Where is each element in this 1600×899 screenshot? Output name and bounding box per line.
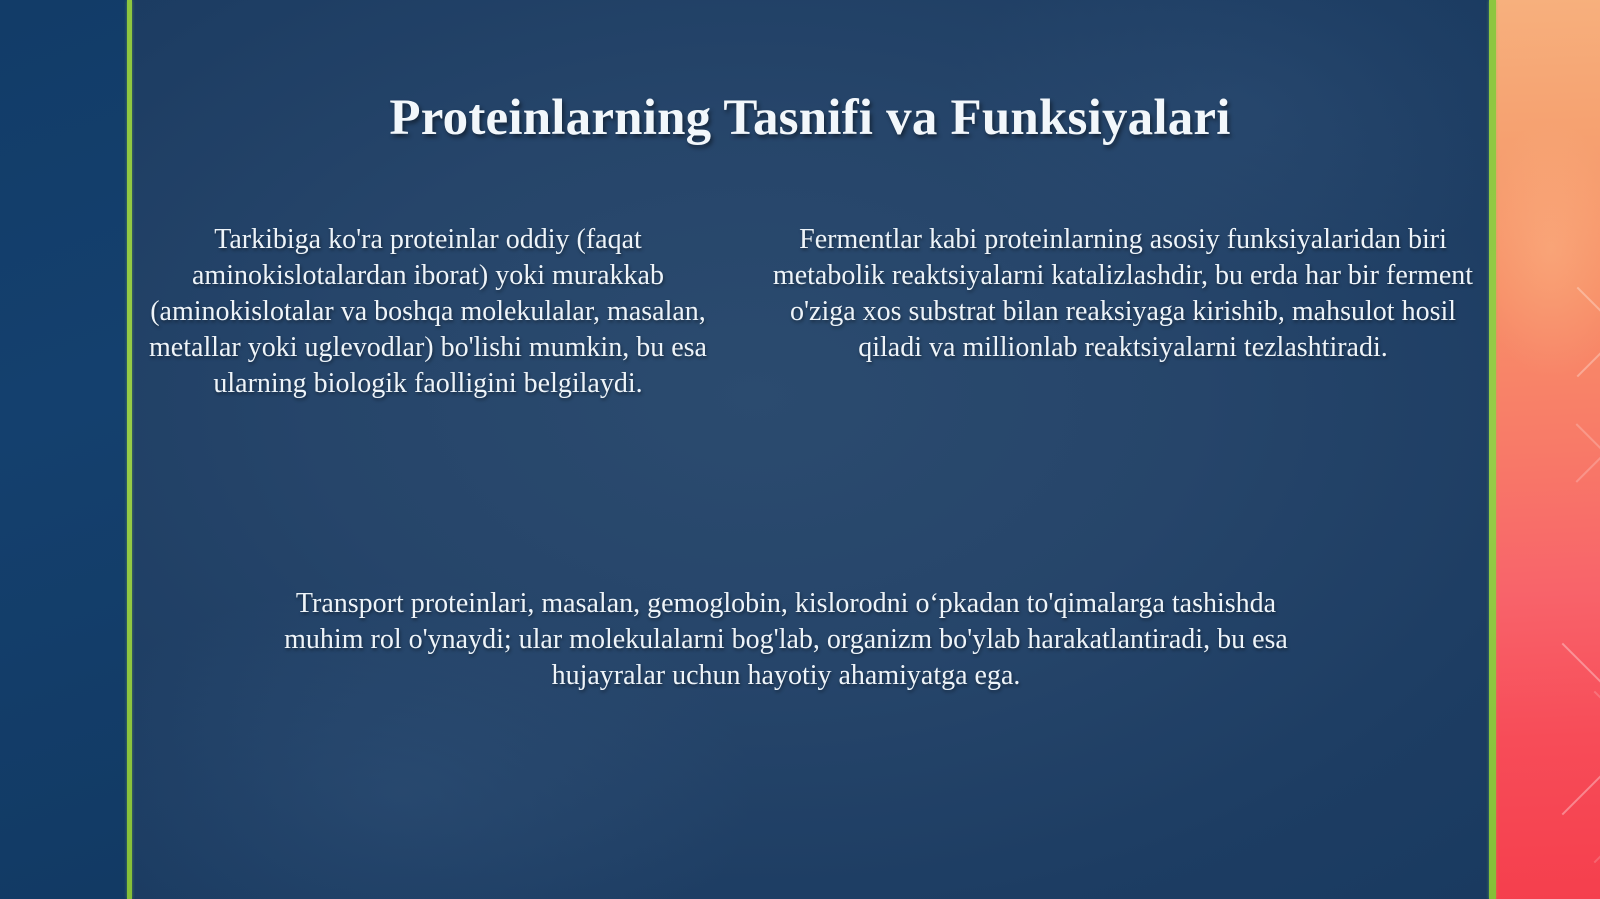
slide-canvas: Proteinlarning Tasnifi va Funksiyalari T… bbox=[0, 0, 1600, 899]
body-paragraph-classification: Tarkibiga ko'ra proteinlar oddiy (faqat … bbox=[104, 222, 752, 403]
decorative-gradient-strip bbox=[1496, 0, 1600, 899]
chevron-icon bbox=[1547, 423, 1600, 482]
slide-title: Proteinlarning Tasnifi va Funksiyalari bbox=[132, 90, 1488, 147]
chevron-icon bbox=[1533, 287, 1600, 378]
body-paragraph-enzymes: Fermentlar kabi proteinlarning asosiy fu… bbox=[768, 222, 1478, 366]
accent-rule-right bbox=[1489, 0, 1496, 899]
left-margin-band bbox=[0, 0, 128, 899]
body-paragraph-transport: Transport proteinlari, masalan, gemoglob… bbox=[262, 586, 1310, 694]
